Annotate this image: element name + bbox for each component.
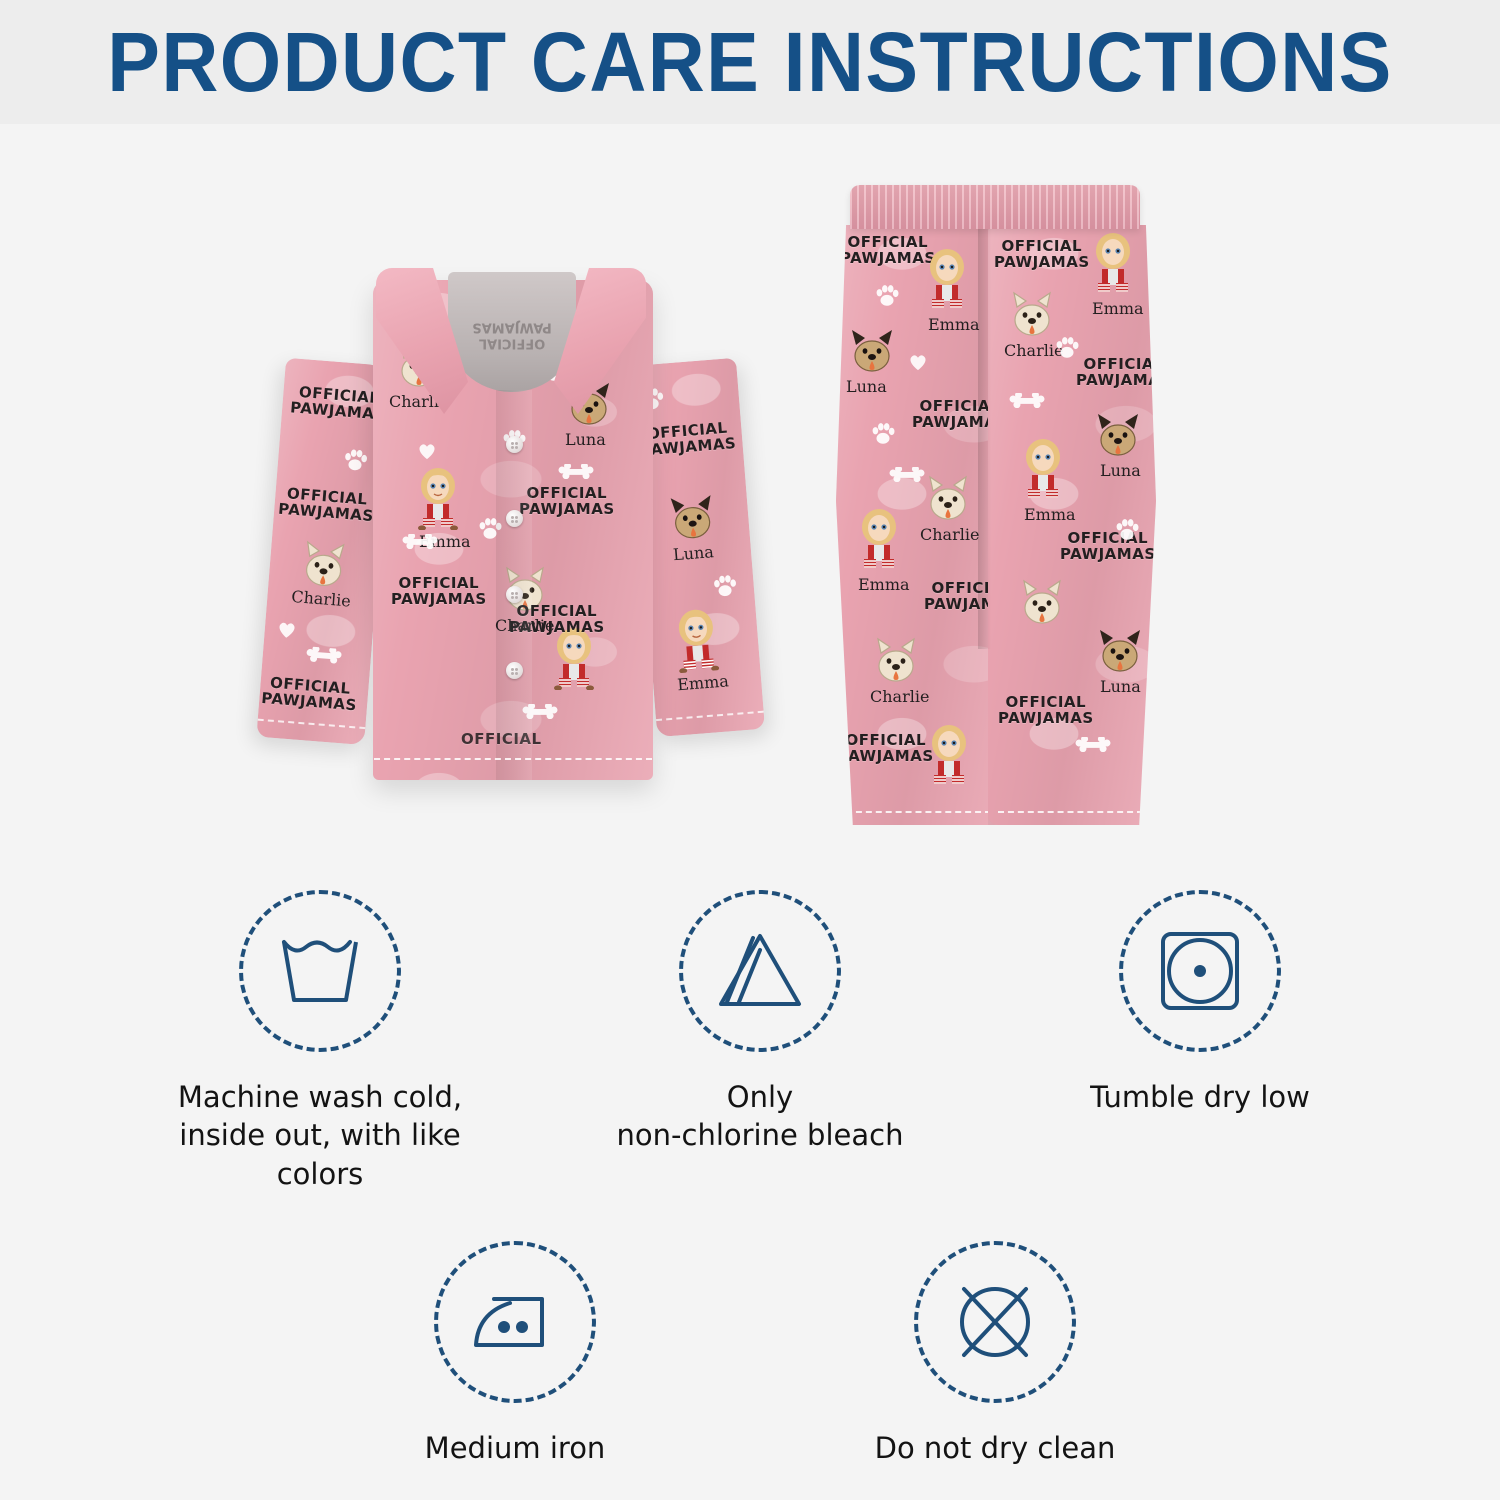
shirt-button — [506, 586, 523, 603]
do-not-dry-clean-icon — [950, 1277, 1040, 1367]
non-chlorine-bleach-icon — [713, 928, 807, 1014]
inner-neck-label: OFFICIAL PAWJAMAS — [472, 318, 551, 351]
girl-emma-icon — [545, 626, 603, 690]
heart-icon — [908, 353, 928, 371]
girl-emma-icon — [850, 507, 908, 571]
paw-print-icon — [870, 421, 896, 447]
pattern-slogan: OFFICIAL PAWJAMAS — [519, 486, 615, 518]
bone-icon — [1008, 393, 1046, 408]
shirt-button — [506, 436, 523, 453]
pattern-name-charlie: Charlie — [920, 525, 979, 544]
dog-luna-icon — [846, 323, 898, 373]
shirt-button — [506, 510, 523, 527]
heart-icon — [417, 442, 437, 460]
pattern-slogan: OFFICIAL PAWJAMAS — [1076, 357, 1156, 389]
care-label: Tumble dry low — [1090, 1078, 1310, 1116]
girl-emma-icon — [918, 247, 976, 311]
care-icon-circle — [239, 890, 401, 1052]
girl-emma-icon — [920, 723, 978, 787]
pajama-shirt: OFFICIAL PAWJAMAS OFFICIAL PAWJAMAS Char… — [278, 250, 748, 770]
care-label: Only non-chlorine bleach — [617, 1078, 904, 1155]
care-item-iron: Medium iron — [350, 1241, 680, 1467]
pants-crotch-shading — [978, 229, 1000, 649]
pattern-slogan: OFFICIAL PAWJAMAS — [838, 733, 934, 765]
pattern-name-luna: Luna — [1100, 677, 1141, 696]
pattern-name-emma: Emma — [928, 315, 980, 334]
pattern-name-emma: Emma — [419, 532, 471, 551]
dog-luna-icon — [664, 488, 720, 542]
girl-emma-icon — [1084, 231, 1142, 295]
dog-luna-icon — [1094, 623, 1146, 673]
pattern-name-luna: Luna — [846, 377, 887, 396]
pattern-name-luna: Luna — [1100, 461, 1141, 480]
pattern-slogan: OFFICIAL PAWJAMAS — [1060, 531, 1156, 563]
paw-print-icon — [874, 283, 900, 309]
pattern-slogan: OFFICIAL PAWJAMAS — [278, 486, 376, 525]
girl-emma-icon — [1014, 437, 1072, 501]
pants-leg-right: OFFICIAL PAWJAMAS Emma — [988, 225, 1156, 825]
care-icon-circle — [679, 890, 841, 1052]
care-item-dry-clean: Do not dry clean — [830, 1241, 1160, 1467]
pattern-slogan: OFFICIAL PAWJAMAS — [261, 675, 359, 714]
bone-icon — [557, 464, 595, 479]
dog-charlie-icon — [922, 471, 974, 521]
care-row-2: Medium iron Do not dry clean — [0, 1241, 1500, 1467]
pants-waistband — [850, 185, 1140, 229]
paw-print-icon — [341, 447, 369, 475]
shirt-hem-stitch — [374, 758, 652, 760]
dog-charlie-icon — [870, 633, 922, 683]
care-label: Machine wash cold, inside out, with like… — [155, 1078, 485, 1193]
care-icon-circle — [1119, 890, 1281, 1052]
page-title: PRODUCT CARE INSTRUCTIONS — [45, 0, 1455, 124]
product-care-page: PRODUCT CARE INSTRUCTIONS OFFICIAL PAWJA… — [0, 0, 1500, 1500]
care-icon-circle — [434, 1241, 596, 1403]
pattern-slogan: OFFICIAL PAWJAMAS — [391, 576, 487, 608]
dog-charlie-icon — [1006, 287, 1058, 337]
pattern-slogan: OFFICIAL PAWJAMAS — [994, 239, 1090, 271]
care-item-tumble-dry: Tumble dry low — [1035, 890, 1365, 1193]
paw-print-icon — [1114, 517, 1140, 543]
bone-icon — [401, 534, 439, 549]
care-row-1: Machine wash cold, inside out, with like… — [0, 890, 1500, 1193]
pants-hem-stitch — [998, 811, 1142, 813]
care-label: Medium iron — [425, 1429, 606, 1467]
dog-charlie-icon — [1016, 575, 1068, 625]
shirt-button — [506, 662, 523, 679]
bone-icon — [888, 467, 926, 482]
pattern-name-luna: Luna — [565, 430, 606, 449]
pattern-name-charlie: Charlie — [291, 587, 352, 611]
bone-icon — [304, 646, 343, 664]
care-instructions-grid: Machine wash cold, inside out, with like… — [0, 890, 1500, 1467]
sleeve-cuff-stitch — [258, 719, 366, 729]
medium-iron-icon — [468, 1287, 562, 1357]
dog-charlie-icon — [296, 535, 352, 589]
paw-print-icon — [711, 572, 739, 600]
pattern-slogan: OFFICIAL PAWJAMAS — [998, 695, 1094, 727]
pattern-name-emma: Emma — [1092, 299, 1144, 318]
tumble-dry-low-icon — [1157, 928, 1243, 1014]
pattern-name-charlie: Charlie — [1004, 341, 1063, 360]
pattern-name-charlie: Charlie — [870, 687, 929, 706]
bone-icon — [1074, 737, 1112, 752]
pattern-name-emma: Emma — [677, 671, 730, 694]
pajama-pants: OFFICIAL PAWJAMAS Luna — [810, 185, 1180, 845]
paw-print-icon — [1054, 335, 1080, 361]
heart-icon — [276, 620, 297, 640]
care-label: Do not dry clean — [875, 1429, 1116, 1467]
girl-emma-icon — [665, 606, 728, 674]
care-icon-circle — [914, 1241, 1076, 1403]
pattern-name-luna: Luna — [672, 542, 714, 564]
sleeve-cuff-stitch — [656, 711, 764, 721]
pattern-name-emma: Emma — [1024, 505, 1076, 524]
care-item-bleach: Only non-chlorine bleach — [595, 890, 925, 1193]
dog-luna-icon — [1092, 407, 1144, 457]
pattern-name-emma: Emma — [858, 575, 910, 594]
care-item-machine-wash: Machine wash cold, inside out, with like… — [155, 890, 485, 1193]
pattern-slogan: OFFICIAL PAWJAMAS — [639, 420, 737, 459]
pants-hem-stitch — [846, 811, 990, 813]
girl-emma-icon — [409, 466, 467, 530]
product-photo-area: OFFICIAL PAWJAMAS OFFICIAL PAWJAMAS Char… — [0, 125, 1500, 885]
pattern-slogan: OFFICIAL PAWJAMAS — [840, 235, 936, 267]
machine-wash-icon — [274, 930, 366, 1012]
